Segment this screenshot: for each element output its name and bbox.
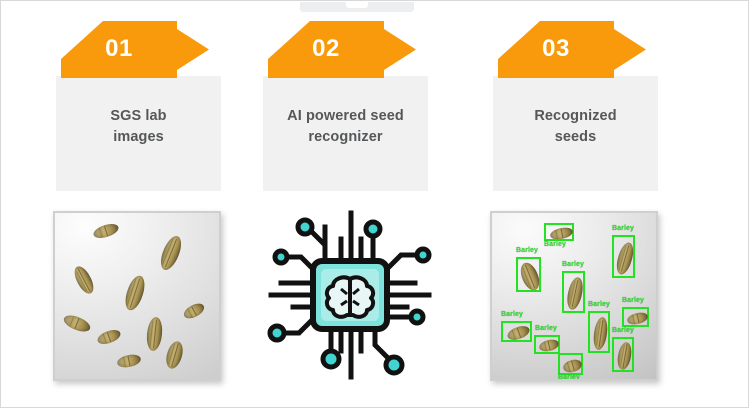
- step-card-2-label: AI powered seed recognizer: [263, 106, 428, 148]
- detection-label: Barley: [588, 301, 610, 308]
- step-card-3: Recognized seeds: [493, 76, 658, 191]
- seed: [506, 323, 532, 342]
- brain-icon: [327, 277, 373, 317]
- toolbar-notch: [346, 2, 368, 8]
- recognized-seeds-photo: Barley Barley Barley Barley Barley Barle…: [490, 211, 658, 381]
- step-card-3-label: Recognized seeds: [493, 106, 658, 148]
- seed: [538, 338, 560, 354]
- detection-label: Barley: [612, 327, 634, 334]
- seed: [614, 241, 637, 277]
- step-card-1-label-line1: SGS lab: [56, 106, 221, 127]
- detection-label: Barley: [535, 325, 557, 332]
- ai-chip-brain-icon: [263, 205, 438, 385]
- step-card-3-label-line1: Recognized: [493, 106, 658, 127]
- slide-canvas: SGS lab images 01 AI powered seed recogn…: [0, 0, 749, 408]
- detection-label: Barley: [622, 297, 644, 304]
- seed: [592, 316, 609, 350]
- detection-box: [612, 337, 634, 372]
- arrow-shape-icon: [498, 21, 646, 78]
- step-card-1: SGS lab images: [56, 76, 221, 191]
- seed: [616, 341, 634, 371]
- step-card-3-label-line2: seeds: [493, 127, 658, 148]
- detection-label: Barley: [516, 247, 538, 254]
- detection-box: [562, 271, 585, 313]
- detection-box: [612, 235, 635, 278]
- arrow-shape-icon: [268, 21, 416, 78]
- sgs-lab-seed-photo: [53, 211, 221, 381]
- step-arrow-1: 01: [61, 21, 209, 78]
- step-arrow-3: 03: [498, 21, 646, 78]
- step-arrow-2: 02: [268, 21, 416, 78]
- seed: [565, 276, 586, 311]
- arrow-shape-icon: [61, 21, 209, 78]
- seed: [549, 226, 574, 242]
- detection-box: [501, 321, 532, 342]
- detection-box: [588, 311, 610, 353]
- seed: [626, 311, 649, 327]
- step-card-2-label-line1: AI powered seed: [263, 106, 428, 127]
- detection-label: Barley: [544, 241, 566, 248]
- detection-box: [544, 223, 574, 241]
- floating-toolbar-strip[interactable]: [300, 2, 414, 12]
- detection-box: [516, 257, 541, 292]
- detection-label: Barley: [501, 311, 523, 318]
- detection-box: [622, 307, 649, 327]
- detection-box: [534, 335, 560, 354]
- step-card-2: AI powered seed recognizer: [263, 76, 428, 191]
- detection-box: [558, 353, 583, 375]
- seed: [517, 260, 543, 293]
- detection-label: Barley: [612, 225, 634, 232]
- step-card-1-label-line2: images: [56, 127, 221, 148]
- detection-label: Barley: [562, 261, 584, 268]
- seed: [562, 358, 584, 375]
- ai-chip-svg: [263, 205, 438, 385]
- step-card-2-label-line2: recognizer: [263, 127, 428, 148]
- step-card-1-label: SGS lab images: [56, 106, 221, 148]
- detection-label: Barley: [558, 374, 580, 381]
